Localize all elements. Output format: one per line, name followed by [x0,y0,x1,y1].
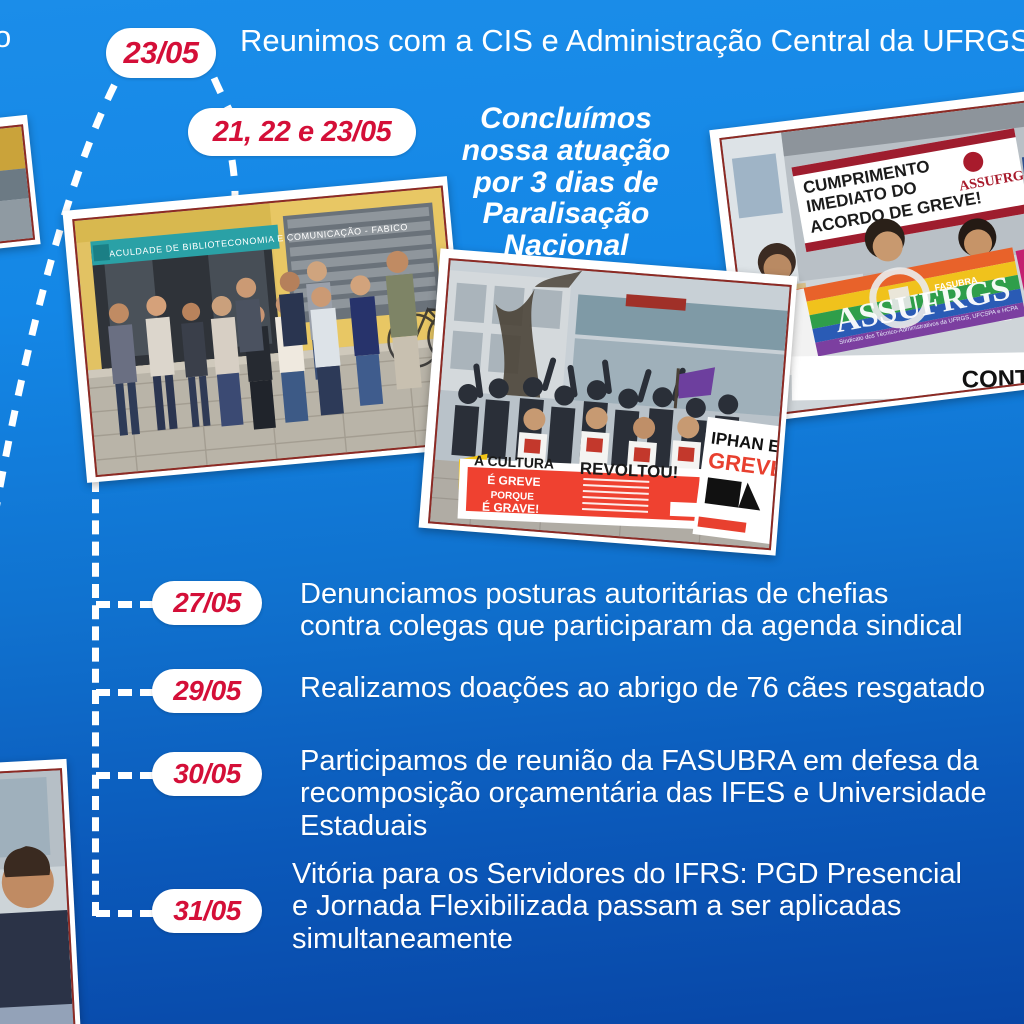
svg-text:É GREVE: É GREVE [487,472,541,489]
headline-text: Reunimos com a CIS e Administração Centr… [240,23,1024,59]
text-fragment-top-left: o [0,19,11,55]
timeline-text-31-05: Vitória para os Servidores do IFRS: PGD … [292,858,1024,955]
timeline-text-27-05: Denunciamos posturas autoritárias de che… [300,578,1024,643]
paralisacao-claim-text: Concluímos nossa atuação por 3 dias de P… [430,103,702,262]
timeline-branch-31 [96,910,154,917]
svg-text:CONT: CONT [961,365,1024,393]
cultura-revoltou-protest-photo: A CULTURA REVOLTOU! É GREVE PORQUE É GRA… [419,248,798,555]
date-pill-29-05[interactable]: 29/05 [152,669,262,713]
date-pill-27-05[interactable]: 27/05 [152,581,262,625]
timeline-spine [92,478,99,916]
fabico-group-photo: FACULDADE DE BIBLIOTECONOMIA E COMUNICAÇ… [62,176,471,483]
timeline-text-29-05: Realizamos doações ao abrigo de 76 cães … [300,672,1024,704]
svg-text:É GRAVE!: É GRAVE! [482,499,540,516]
timeline-text-30-05: Participamos de reunião da FASUBRA em de… [300,745,1024,842]
partial-photo-bottom-left [0,759,81,1024]
partial-photo-top-left [0,115,41,251]
infographic-canvas: o [0,0,1024,1024]
date-pill-headline[interactable]: 23/05 [106,28,216,78]
timeline-branch-29 [96,689,154,696]
timeline-branch-27 [96,601,154,608]
timeline-branch-30 [96,772,154,779]
date-pill-31-05[interactable]: 31/05 [152,889,262,933]
date-pill-30-05[interactable]: 30/05 [152,752,262,796]
date-pill-paralisacao[interactable]: 21, 22 e 23/05 [188,108,416,156]
